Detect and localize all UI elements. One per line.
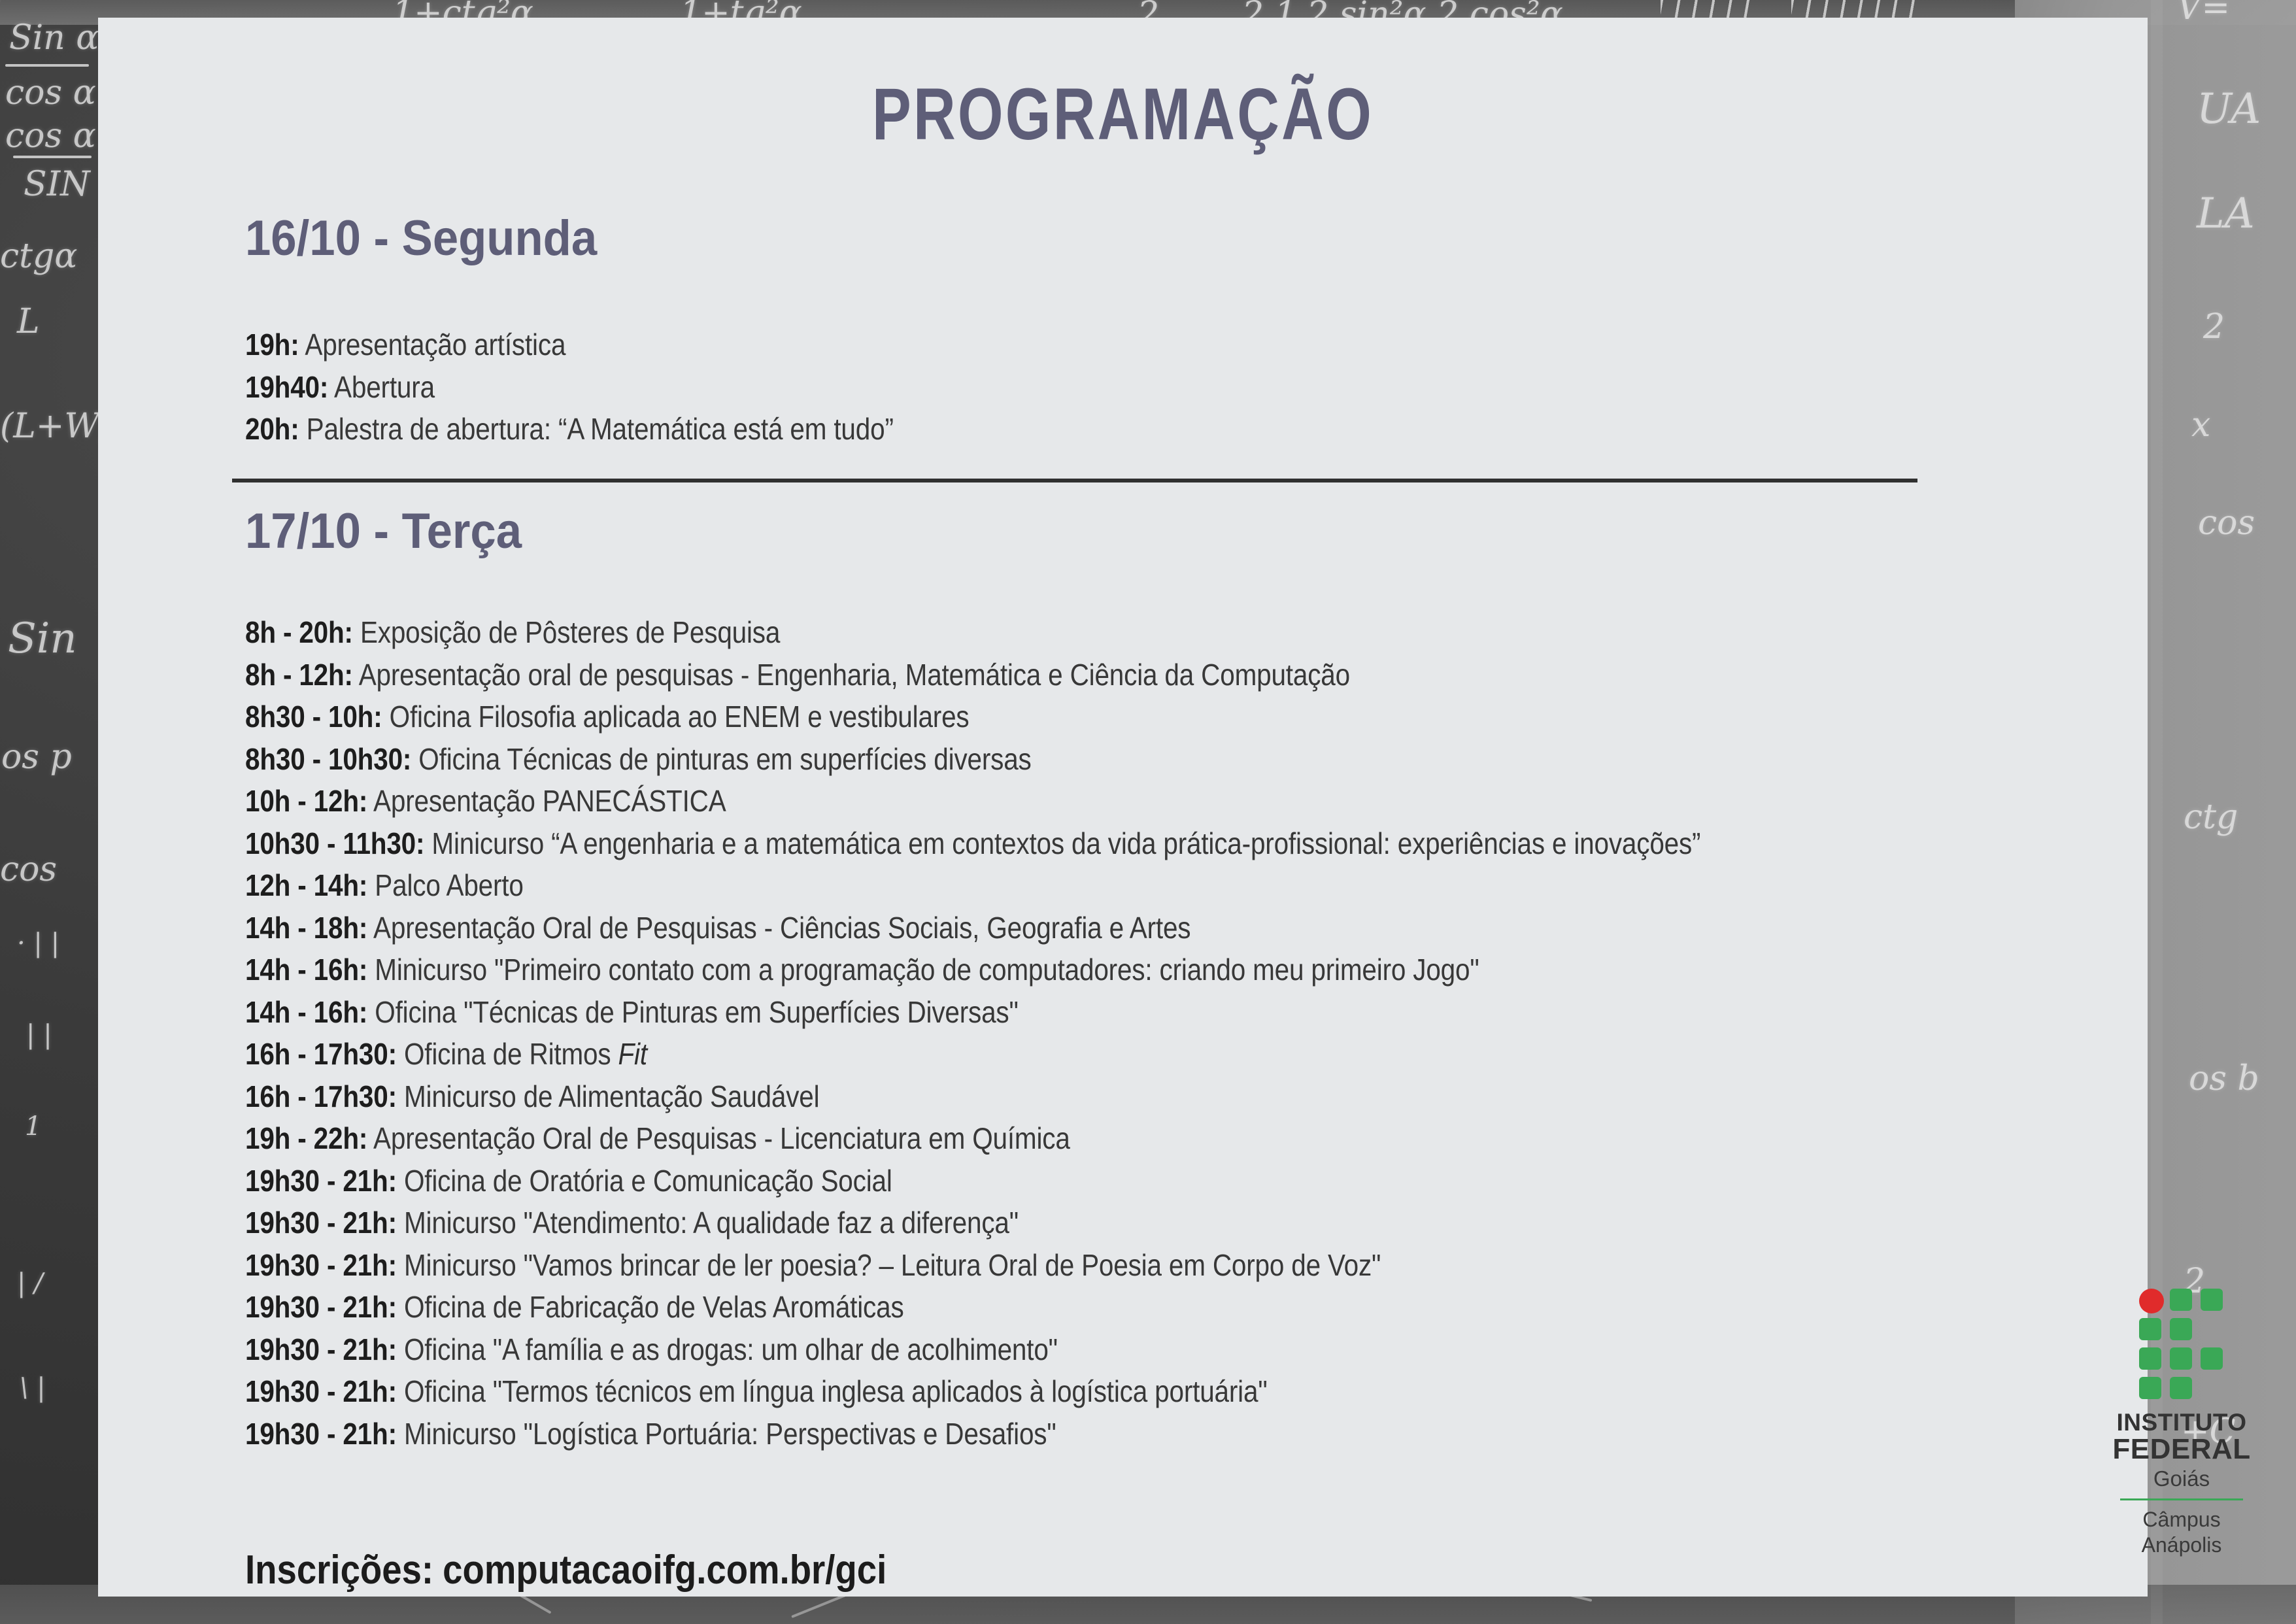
schedule-row: 16h - 17h30: Oficina de Ritmos Fit [245, 1033, 1891, 1075]
schedule-time: 19h30 - 21h: [245, 1332, 397, 1366]
schedule-row: 14h - 16h: Oficina "Técnicas de Pinturas… [245, 991, 1891, 1034]
schedule-description: Oficina Técnicas de pinturas em superfíc… [418, 742, 1031, 776]
schedule-time: 19h40: [245, 370, 328, 404]
schedule-description: Oficina "Técnicas de Pinturas em Superfí… [375, 995, 1018, 1029]
schedule-description: Minicurso "Logística Portuária: Perspect… [404, 1417, 1056, 1451]
schedule-description: Apresentação oral de pesquisas - Engenha… [359, 658, 1350, 692]
content-card: PROGRAMAÇÃO 16/10 - Segunda 19h: Apresen… [98, 18, 2148, 1597]
logo-state-goias: Goiás [2108, 1466, 2255, 1491]
chalk-fraction-bar-2 [13, 156, 92, 158]
schedule-time: 8h - 20h: [245, 615, 353, 649]
signup-line: Inscrições:computacaoifg.com.br/gci [245, 1547, 886, 1593]
ifg-logo-mark-icon [2139, 1289, 2224, 1401]
schedule-time: 19h - 22h: [245, 1121, 367, 1155]
logo-word-federal: FEDERAL [2108, 1435, 2255, 1464]
schedule-description: Exposição de Pôsteres de Pesquisa [360, 615, 780, 649]
schedule-time: 10h - 12h: [245, 784, 367, 818]
ifg-logo: INSTITUTO FEDERAL Goiás Câmpus Anápolis [2108, 1289, 2255, 1558]
schedule-time: 8h30 - 10h30: [245, 742, 411, 776]
schedule-time: 19h30 - 21h: [245, 1374, 397, 1408]
schedule-description: Minicurso "Primeiro contato com a progra… [375, 953, 1479, 987]
schedule-time: 19h30 - 21h: [245, 1206, 397, 1240]
schedule-description: Oficina de Oratória e Comunicação Social [404, 1164, 892, 1198]
schedule-description: Palestra de abertura: “A Matemática está… [307, 412, 894, 446]
logo-campus-line2: Anápolis [2108, 1532, 2255, 1558]
schedule-time: 12h - 14h: [245, 868, 367, 902]
schedule-row: 19h30 - 21h: Minicurso "Vamos brincar de… [245, 1244, 1891, 1287]
schedule-row: 8h - 20h: Exposição de Pôsteres de Pesqu… [245, 611, 1891, 654]
schedule-description: Abertura [334, 370, 435, 404]
schedule-row: 19h: Apresentação artística [245, 324, 1891, 366]
schedule-time: 19h: [245, 328, 299, 362]
schedule-time: 19h30 - 21h: [245, 1164, 397, 1198]
schedule-row: 19h30 - 21h: Oficina de Fabricação de Ve… [245, 1286, 1891, 1328]
schedule-description: Oficina de Fabricação de Velas Aromática… [404, 1290, 904, 1324]
schedule-row: 16h - 17h30: Minicurso de Alimentação Sa… [245, 1075, 1891, 1118]
schedule-time: 10h30 - 11h30: [245, 826, 424, 860]
schedule-description: Oficina Filosofia aplicada ao ENEM e ves… [390, 700, 970, 734]
poster-root: Sin α cos α cos α SIN ctgα L (L+W) Sin o… [0, 0, 2296, 1624]
schedule-time: 19h30 - 21h: [245, 1290, 397, 1324]
logo-cell-r1c2 [2170, 1289, 2192, 1311]
schedule-row: 12h - 14h: Palco Aberto [245, 864, 1891, 907]
section-divider [232, 479, 1917, 482]
logo-word-instituto: INSTITUTO [2108, 1410, 2255, 1435]
schedule-time: 16h - 17h30: [245, 1037, 397, 1071]
day-heading-monday: 16/10 - Segunda [245, 214, 597, 263]
page-title: PROGRAMAÇÃO [303, 78, 1943, 151]
schedule-row: 8h - 12h: Apresentação oral de pesquisas… [245, 654, 1891, 696]
schedule-description: Oficina "Termos técnicos em língua ingle… [404, 1374, 1268, 1408]
schedule-description: Oficina "A família e as drogas: um olhar… [404, 1332, 1058, 1366]
schedule-description: Apresentação Oral de Pesquisas - Licenci… [373, 1121, 1070, 1155]
day-heading-tuesday: 17/10 - Terça [245, 507, 522, 556]
logo-cell-r3c1 [2139, 1347, 2161, 1370]
schedule-description: Minicurso “A engenharia e a matemática e… [431, 826, 1700, 860]
schedule-description: Apresentação Oral de Pesquisas - Ciência… [373, 911, 1190, 945]
schedule-row: 8h30 - 10h: Oficina Filosofia aplicada a… [245, 696, 1891, 738]
schedule-row: 10h30 - 11h30: Minicurso “A engenharia e… [245, 822, 1891, 865]
schedule-time: 16h - 17h30: [245, 1079, 397, 1113]
schedule-time: 14h - 18h: [245, 911, 367, 945]
schedule-row: 19h40: Abertura [245, 366, 1891, 409]
schedule-row: 14h - 18h: Apresentação Oral de Pesquisa… [245, 907, 1891, 949]
schedule-description: Minicurso "Atendimento: A qualidade faz … [404, 1206, 1019, 1240]
schedule-row: 19h30 - 21h: Minicurso "Atendimento: A q… [245, 1202, 1891, 1244]
schedule-time: 8h - 12h: [245, 658, 353, 692]
schedule-time: 20h: [245, 412, 299, 446]
chalk-fraction-bar-1 [5, 64, 89, 67]
schedule-description: Oficina de Ritmos [404, 1037, 618, 1071]
logo-divider [2120, 1498, 2243, 1500]
schedule-time: 14h - 16h: [245, 995, 367, 1029]
schedule-description: Apresentação PANECÁSTICA [373, 784, 726, 818]
schedule-time: 14h - 16h: [245, 953, 367, 987]
schedule-description: Apresentação artística [305, 328, 566, 362]
schedule-row: 8h30 - 10h30: Oficina Técnicas de pintur… [245, 738, 1891, 781]
logo-cell-r2c1 [2139, 1318, 2161, 1340]
schedule-row: 19h30 - 21h: Oficina "A família e as dro… [245, 1328, 1891, 1371]
logo-cell-r4c2 [2170, 1377, 2192, 1399]
schedule-description: Minicurso "Vamos brincar de ler poesia? … [404, 1248, 1381, 1282]
schedule-list-monday: 19h: Apresentação artística19h40: Abertu… [245, 324, 2115, 450]
logo-cell-r3c3 [2201, 1347, 2223, 1370]
schedule-row: 19h30 - 21h: Oficina de Oratória e Comun… [245, 1160, 1891, 1202]
schedule-row: 19h30 - 21h: Oficina "Termos técnicos em… [245, 1370, 1891, 1413]
logo-campus-line1: Câmpus [2108, 1507, 2255, 1532]
logo-red-circle-icon [2139, 1289, 2164, 1313]
logo-cell-r3c2 [2170, 1347, 2192, 1370]
schedule-time: 19h30 - 21h: [245, 1248, 397, 1282]
schedule-list-tuesday: 8h - 20h: Exposição de Pôsteres de Pesqu… [245, 611, 2115, 1455]
schedule-description-emphasis: Fit [618, 1037, 647, 1071]
schedule-row: 14h - 16h: Minicurso "Primeiro contato c… [245, 949, 1891, 991]
logo-cell-r4c1 [2139, 1377, 2161, 1399]
schedule-time: 8h30 - 10h: [245, 700, 382, 734]
schedule-description: Minicurso de Alimentação Saudável [404, 1079, 819, 1113]
logo-cell-r2c2 [2170, 1318, 2192, 1340]
schedule-row: 20h: Palestra de abertura: “A Matemática… [245, 408, 1891, 450]
schedule-description: Palco Aberto [375, 868, 523, 902]
signup-url[interactable]: computacaoifg.com.br/gci [443, 1548, 886, 1593]
schedule-row: 10h - 12h: Apresentação PANECÁSTICA [245, 780, 1891, 822]
schedule-time: 19h30 - 21h: [245, 1417, 397, 1451]
schedule-row: 19h30 - 21h: Minicurso "Logística Portuá… [245, 1413, 1891, 1455]
logo-cell-r1c3 [2201, 1289, 2223, 1311]
schedule-row: 19h - 22h: Apresentação Oral de Pesquisa… [245, 1117, 1891, 1160]
signup-label: Inscrições: [245, 1548, 433, 1593]
